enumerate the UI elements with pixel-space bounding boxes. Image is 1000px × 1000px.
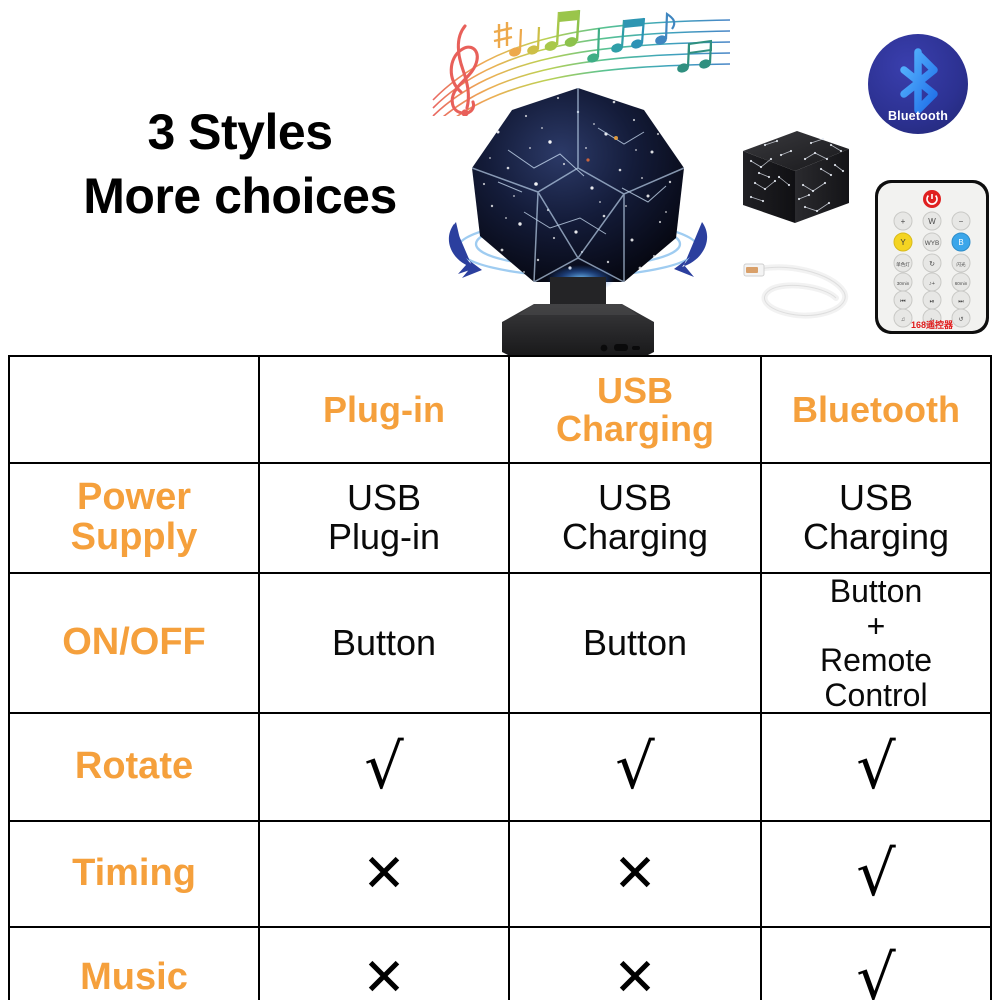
remote-control: + W − Y WYB B 单色灯 ↻ 闪光 30min ♪+ 60min ⏮ … xyxy=(873,178,991,336)
cell-timing-bluetooth: √ xyxy=(761,821,991,927)
row-label-timing: Timing xyxy=(9,821,259,927)
table-row: Timing ✕ ✕ √ xyxy=(9,821,991,927)
cell-rotate-bluetooth: √ xyxy=(761,713,991,821)
remote-caption: 168遥控器 xyxy=(873,318,991,331)
column-header-usb-charging: USB Charging xyxy=(509,356,761,463)
headline-line-1: 3 Styles xyxy=(40,100,440,164)
svg-text:+: + xyxy=(901,217,906,226)
svg-text:30min: 30min xyxy=(897,281,910,286)
table-row: Power Supply USB Plug-in USB Charging US… xyxy=(9,463,991,573)
table-row: Rotate √ √ √ xyxy=(9,713,991,821)
svg-text:W: W xyxy=(928,217,936,226)
row-label-rotate: Rotate xyxy=(9,713,259,821)
svg-text:⏮: ⏮ xyxy=(900,299,906,305)
cell-onoff-bluetooth: Button + Remote Control xyxy=(761,573,991,713)
cell-timing-plug-in: ✕ xyxy=(259,821,509,927)
row-label-power-supply: Power Supply xyxy=(9,463,259,573)
cell-rotate-plug-in: √ xyxy=(259,713,509,821)
svg-text:↻: ↻ xyxy=(929,261,935,268)
column-header-plug-in: Plug-in xyxy=(259,356,509,463)
row-label-music: Music xyxy=(9,927,259,1000)
hero-section: 3 Styles More choices xyxy=(0,0,1000,355)
column-header-bluetooth: Bluetooth xyxy=(761,356,991,463)
comparison-table: Plug-in USB Charging Bluetooth Power Sup… xyxy=(8,355,992,1000)
cell-power-bluetooth: USB Charging xyxy=(761,463,991,573)
cell-power-plug-in: USB Plug-in xyxy=(259,463,509,573)
svg-text:−: − xyxy=(959,217,964,226)
cell-timing-usb: ✕ xyxy=(509,821,761,927)
svg-text:60min: 60min xyxy=(955,281,968,286)
headline: 3 Styles More choices xyxy=(40,100,440,228)
table-corner-cell xyxy=(9,356,259,463)
svg-text:♪+: ♪+ xyxy=(929,281,935,287)
gift-box xyxy=(735,125,855,235)
bluetooth-badge: Bluetooth xyxy=(866,32,970,136)
svg-text:B: B xyxy=(958,238,963,247)
table-row: Music ✕ ✕ √ xyxy=(9,927,991,1000)
bluetooth-label: Bluetooth xyxy=(866,109,970,123)
cell-rotate-usb: √ xyxy=(509,713,761,821)
headline-line-2: More choices xyxy=(40,164,440,228)
svg-text:WYB: WYB xyxy=(925,240,940,247)
star-projector-lamp xyxy=(438,72,718,357)
cell-onoff-usb: Button xyxy=(509,573,761,713)
svg-text:⏭: ⏭ xyxy=(958,299,964,305)
cell-music-plug-in: ✕ xyxy=(259,927,509,1000)
cell-power-usb: USB Charging xyxy=(509,463,761,573)
svg-text:闪光: 闪光 xyxy=(956,261,966,268)
cell-onoff-plug-in: Button xyxy=(259,573,509,713)
svg-text:单色灯: 单色灯 xyxy=(896,261,910,268)
cell-music-usb: ✕ xyxy=(509,927,761,1000)
table-header-row: Plug-in USB Charging Bluetooth xyxy=(9,356,991,463)
usb-cable xyxy=(740,248,860,328)
row-label-on-off: ON/OFF xyxy=(9,573,259,713)
cell-music-bluetooth: √ xyxy=(761,927,991,1000)
svg-text:⏯: ⏯ xyxy=(930,299,935,305)
table-row: ON/OFF Button Button Button + Remote Con… xyxy=(9,573,991,713)
product-comparison-infographic: 3 Styles More choices xyxy=(0,0,1000,1000)
svg-text:Y: Y xyxy=(900,238,906,247)
